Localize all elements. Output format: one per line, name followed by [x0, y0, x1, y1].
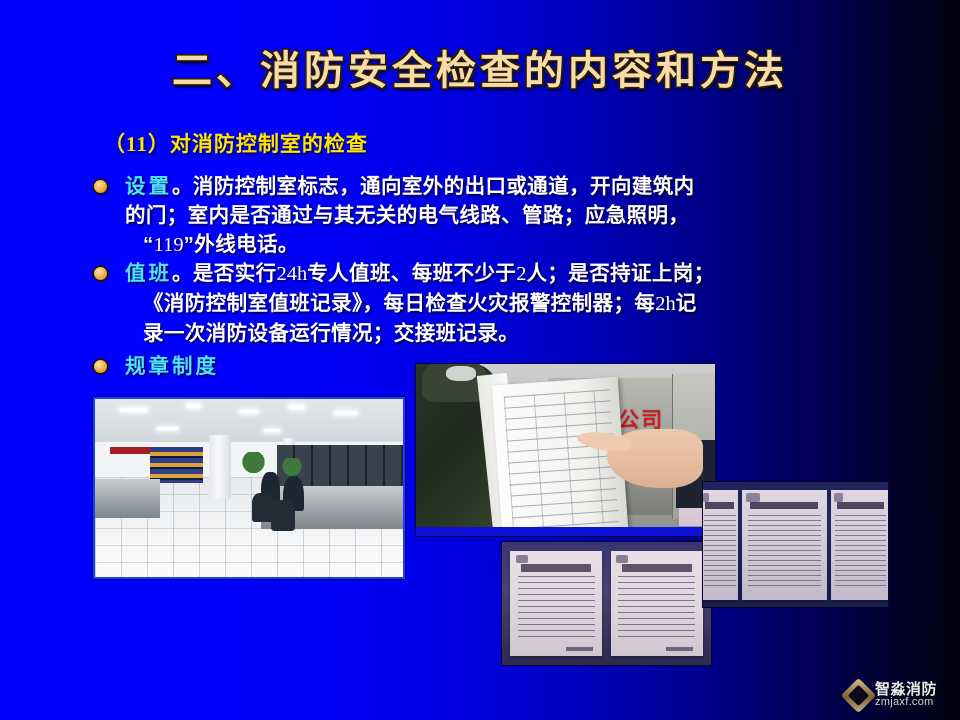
- ceiling-light: [187, 404, 199, 408]
- ceiling-region: [95, 399, 403, 442]
- quote-open: “: [143, 233, 154, 256]
- panel-logo-icon: [703, 493, 709, 502]
- bullet-text-duty: 值班。是否实行24h专人值班、每班不少于2人；是否持证上岗； 《消防控制室值班记…: [125, 259, 715, 348]
- bullet-line: 设置。消防控制室标志，通向室外的出口或通道，开向建筑内: [125, 172, 695, 201]
- regulations-pair-photo: [501, 541, 712, 666]
- bullet-line-text: 人；是否持证上岗；: [527, 262, 715, 285]
- bullet-lead-label: 设置: [125, 175, 172, 198]
- potted-plant: [240, 452, 268, 477]
- bullet-text-settings: 设置。消防控制室标志，通向室外的出口或通道，开向建筑内 的门；室内是否通过与其无…: [125, 172, 695, 260]
- logbook-inspection-photo: 限公司: [415, 363, 716, 537]
- regulation-sheet: [611, 551, 703, 657]
- page-title: 二、消防安全检查的内容和方法: [0, 38, 960, 96]
- structural-column: [209, 435, 231, 499]
- bullet-line: 值班。是否实行24h专人值班、每班不少于2人；是否持证上岗；: [125, 259, 715, 289]
- bullet-lead-label: 值班: [125, 262, 172, 285]
- bullet-line-text: 专人值班、每班不少于: [307, 262, 516, 285]
- slide-canvas: 二、消防安全检查的内容和方法 （11）对消防控制室的检查 设置。消防控制室标志，…: [0, 0, 960, 720]
- sheet-title-bar: [521, 564, 591, 571]
- watermark-logo-icon: [841, 677, 876, 712]
- control-room-photo: [93, 397, 405, 579]
- panel-logo-icon: [834, 493, 843, 502]
- office-chair: [271, 500, 296, 530]
- sheet-footer-mark: [666, 647, 694, 651]
- bullet-line: “119”外线电话。: [125, 230, 695, 260]
- regulations-wall-content: [703, 482, 888, 607]
- sheet-body-lines: [618, 576, 695, 642]
- watermark-brand-name: 智淼消防: [875, 682, 937, 697]
- sheet-footer-mark: [566, 647, 594, 651]
- panel-body-lines: [704, 515, 736, 588]
- ceiling-light: [335, 411, 357, 415]
- interval-hours-value: 2h: [655, 293, 676, 315]
- sheet-body-lines: [518, 576, 595, 642]
- bullet-dot-icon: [94, 360, 107, 373]
- bullet-item-settings: 设置。消防控制室标志，通向室外的出口或通道，开向建筑内 的门；室内是否通过与其无…: [94, 172, 934, 260]
- regulations-pair-content: [502, 542, 711, 665]
- panel-logo-icon: [746, 493, 760, 502]
- section-subheading: （11）对消防控制室的检查: [104, 128, 368, 158]
- face-mask: [446, 366, 476, 381]
- bullet-line-text: 。是否实行: [172, 262, 277, 285]
- bullet-line: 规章制度: [125, 352, 219, 381]
- logbook-photo-content: 限公司: [416, 364, 715, 536]
- watermark-text-group: 智淼消防 zmjaxf.com: [875, 682, 937, 708]
- ceiling-light: [240, 410, 258, 414]
- watermark: 智淼消防 zmjaxf.com: [846, 682, 937, 708]
- regulations-wall-photo: [702, 481, 889, 608]
- sheet-title-bar: [622, 564, 692, 571]
- quote-close-text: ”外线电话。: [184, 233, 299, 256]
- duty-hours-value: 24h: [277, 263, 308, 285]
- panel-title-bar: [750, 502, 818, 510]
- left-console-desk: [95, 479, 160, 518]
- staff-count-value: 2: [516, 263, 526, 285]
- ceiling-light: [289, 405, 304, 409]
- photo-bottom-band: [416, 527, 715, 536]
- bullet-line: 的门；室内是否通过与其无关的电气线路、管路；应急照明，: [125, 201, 695, 230]
- panel-body-lines: [748, 515, 821, 588]
- bullet-dot-icon: [94, 267, 107, 280]
- regulation-sheet: [510, 551, 602, 657]
- bullet-lead-label: 规章制度: [125, 355, 219, 378]
- regulation-panel: [702, 490, 738, 600]
- regulation-panel: [742, 490, 827, 600]
- bullet-dot-icon: [94, 180, 107, 193]
- ceiling-light: [157, 427, 179, 430]
- bullet-line: 录一次消防设备运行情况；交接班记录。: [125, 319, 715, 348]
- subheading-number: （11）: [104, 132, 170, 156]
- bullet-line-text: 记: [676, 292, 697, 315]
- equipment-shelf: [150, 447, 202, 483]
- sheet-logo-icon: [616, 555, 628, 563]
- panel-body-lines: [835, 515, 886, 588]
- regulation-panel: [831, 490, 889, 600]
- panel-title-bar: [705, 502, 735, 510]
- ceiling-light: [120, 408, 148, 412]
- red-signage-band: [110, 447, 150, 454]
- bullet-line: 《消防控制室值班记录》，每日检查火灾报警控制器；每2h记: [125, 289, 715, 319]
- bullet-line-text: 。消防控制室标志，通向室外的出口或通道，开向建筑内: [172, 175, 695, 198]
- control-room-photo-content: [95, 399, 403, 577]
- bullet-item-duty: 值班。是否实行24h专人值班、每班不少于2人；是否持证上岗； 《消防控制室值班记…: [94, 259, 934, 348]
- bullet-text-rules: 规章制度: [125, 352, 219, 381]
- watermark-url: zmjaxf.com: [875, 697, 937, 708]
- ceiling-light: [264, 429, 279, 432]
- sheet-logo-icon: [516, 555, 528, 563]
- bullet-line-text: 《消防控制室值班记录》，每日检查火灾报警控制器；每: [143, 292, 655, 315]
- subheading-text: 对消防控制室的检查: [170, 133, 368, 156]
- panel-title-bar: [837, 502, 884, 510]
- emergency-number: 119: [154, 234, 184, 256]
